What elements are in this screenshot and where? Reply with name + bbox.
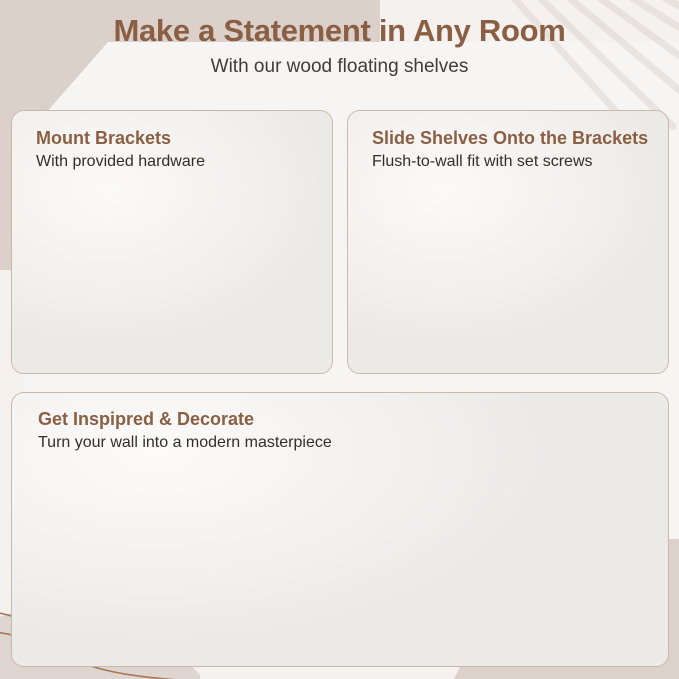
header: Make a Statement in Any Room With our wo… [0, 0, 679, 78]
card-3-subtitle: Turn your wall into a modern masterpiece [38, 433, 368, 453]
card-1-subtitle: With provided hardware [36, 152, 316, 172]
page-title: Make a Statement in Any Room [0, 12, 679, 49]
card-1-title: Mount Brackets [36, 128, 316, 149]
card-2-subtitle: Flush-to-wall fit with set screws [372, 152, 652, 172]
card-3-header: Get Inspipred & Decorate Turn your wall … [38, 409, 368, 453]
card-slide-shelves[interactable]: Slide Shelves Onto the Brackets Flush-to… [347, 110, 669, 374]
card-2-header: Slide Shelves Onto the Brackets Flush-to… [372, 128, 652, 172]
card-mount-brackets[interactable]: Mount Brackets With provided hardware [11, 110, 333, 374]
page-subtitle: With our wood floating shelves [0, 56, 679, 78]
card-2-title: Slide Shelves Onto the Brackets [372, 128, 652, 149]
infographic-canvas: Make a Statement in Any Room With our wo… [0, 0, 679, 679]
card-get-inspired[interactable]: Get Inspipred & Decorate Turn your wall … [11, 392, 669, 667]
card-1-header: Mount Brackets With provided hardware [36, 128, 316, 172]
card-3-title: Get Inspipred & Decorate [38, 409, 368, 430]
